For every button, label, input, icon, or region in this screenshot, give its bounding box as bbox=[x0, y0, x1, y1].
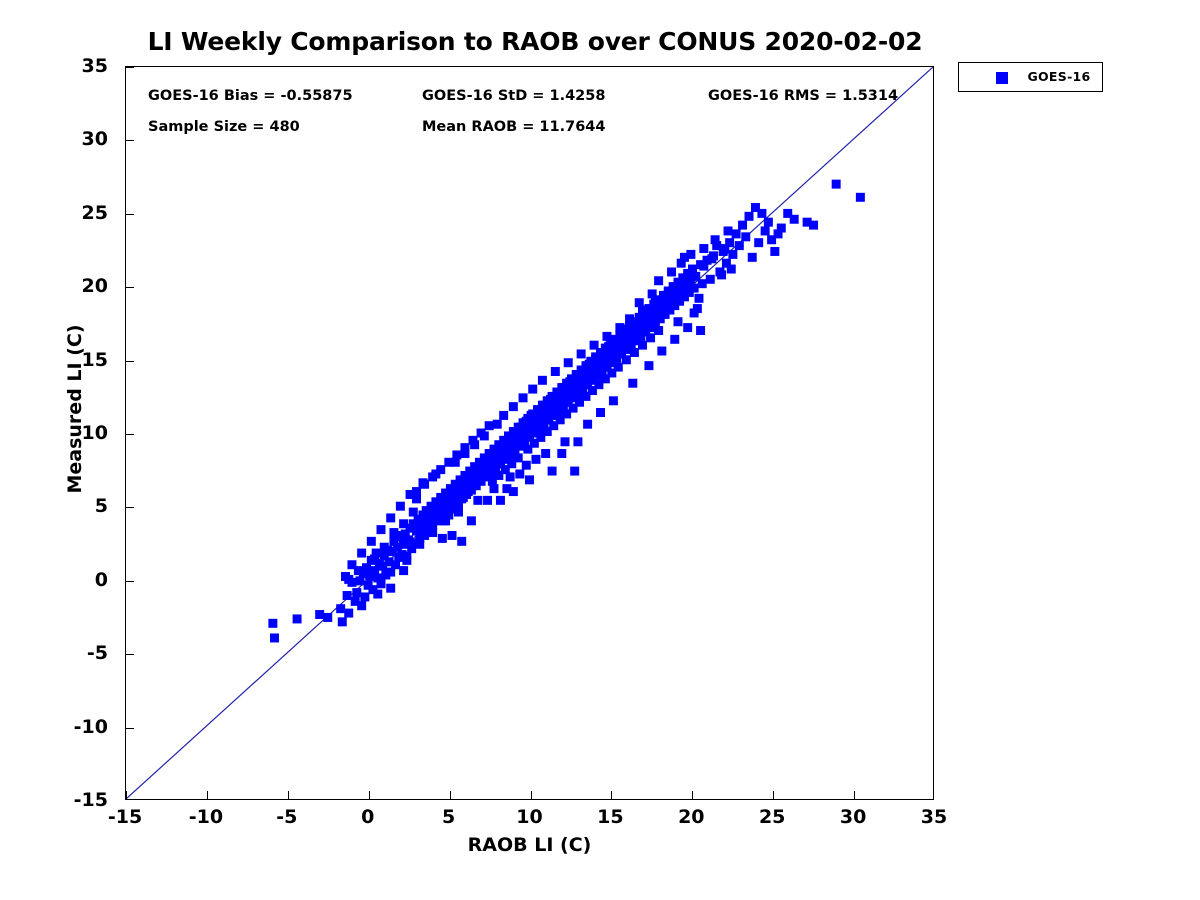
data-point bbox=[483, 496, 492, 505]
x-tick-mark bbox=[773, 791, 774, 799]
x-tick-label: 20 bbox=[678, 806, 704, 828]
x-tick-mark bbox=[288, 791, 289, 799]
data-point bbox=[699, 244, 708, 253]
y-tick-label: -5 bbox=[0, 642, 108, 664]
data-point bbox=[496, 496, 505, 505]
data-point bbox=[509, 402, 518, 411]
y-tick-mark bbox=[126, 361, 134, 362]
data-point bbox=[428, 472, 437, 481]
y-tick-label: 5 bbox=[0, 495, 108, 517]
data-point bbox=[683, 323, 692, 332]
y-tick-label: 0 bbox=[0, 569, 108, 591]
data-point bbox=[452, 450, 461, 459]
legend-box: GOES-16 bbox=[958, 62, 1103, 92]
data-point bbox=[422, 516, 431, 525]
data-point bbox=[717, 270, 726, 279]
data-point bbox=[377, 525, 386, 534]
data-point bbox=[352, 588, 361, 597]
x-tick-mark bbox=[531, 791, 532, 799]
data-point bbox=[541, 449, 550, 458]
data-point bbox=[551, 367, 560, 376]
y-tick-mark bbox=[126, 67, 134, 68]
data-point bbox=[635, 298, 644, 307]
data-point bbox=[473, 496, 482, 505]
legend-label-goes-16: GOES-16 bbox=[1019, 63, 1099, 91]
data-point bbox=[654, 276, 663, 285]
data-point bbox=[809, 221, 818, 230]
y-tick-label: -15 bbox=[0, 789, 108, 811]
data-point bbox=[694, 294, 703, 303]
data-point bbox=[690, 308, 699, 317]
data-point bbox=[444, 458, 453, 467]
x-tick-label: 5 bbox=[442, 806, 455, 828]
data-point bbox=[412, 494, 421, 503]
data-point bbox=[467, 516, 476, 525]
annotation-sample-size: Sample Size = 480 bbox=[148, 119, 300, 135]
data-point bbox=[724, 226, 733, 235]
data-point bbox=[630, 319, 639, 328]
y-axis-label: Measured LI (C) bbox=[64, 299, 86, 519]
y-tick-mark bbox=[126, 434, 134, 435]
y-tick-label: 15 bbox=[0, 349, 108, 371]
y-tick-mark bbox=[126, 140, 134, 141]
x-tick-mark bbox=[369, 791, 370, 799]
data-point bbox=[646, 333, 655, 342]
data-point bbox=[790, 215, 799, 224]
x-tick-label: 25 bbox=[759, 806, 785, 828]
data-point bbox=[386, 584, 395, 593]
data-point bbox=[399, 519, 408, 528]
data-point bbox=[564, 358, 573, 367]
data-point bbox=[386, 513, 395, 522]
data-point bbox=[436, 465, 445, 474]
x-tick-label: 30 bbox=[840, 806, 866, 828]
data-point bbox=[698, 279, 707, 288]
x-tick-label: 0 bbox=[361, 806, 374, 828]
data-point bbox=[354, 566, 363, 575]
data-point bbox=[439, 516, 448, 525]
y-tick-mark bbox=[126, 214, 134, 215]
data-point bbox=[428, 528, 437, 537]
data-point bbox=[745, 212, 754, 221]
y-tick-mark bbox=[126, 507, 134, 508]
y-tick-mark bbox=[126, 581, 134, 582]
x-axis-label: RAOB LI (C) bbox=[125, 834, 934, 856]
data-point bbox=[614, 363, 623, 372]
page-title: LI Weekly Comparison to RAOB over CONUS … bbox=[0, 27, 1070, 56]
data-point bbox=[638, 341, 647, 350]
data-point bbox=[515, 470, 524, 479]
data-point bbox=[856, 193, 865, 202]
data-point bbox=[399, 566, 408, 575]
data-point bbox=[357, 549, 366, 558]
data-point bbox=[338, 617, 347, 626]
data-point bbox=[343, 591, 352, 600]
data-point bbox=[570, 467, 579, 476]
data-point bbox=[344, 575, 353, 584]
data-point bbox=[673, 317, 682, 326]
y-tick-mark bbox=[126, 287, 134, 288]
data-point bbox=[460, 443, 469, 452]
y-tick-label: 25 bbox=[0, 202, 108, 224]
data-point bbox=[664, 288, 673, 297]
data-point bbox=[485, 421, 494, 430]
data-point bbox=[493, 420, 502, 429]
data-point bbox=[519, 393, 528, 402]
data-point bbox=[344, 609, 353, 618]
data-point bbox=[548, 467, 557, 476]
data-point bbox=[657, 347, 666, 356]
data-point bbox=[367, 537, 376, 546]
data-point bbox=[509, 487, 518, 496]
data-point bbox=[522, 461, 531, 470]
x-tick-label: 15 bbox=[597, 806, 623, 828]
data-point bbox=[336, 604, 345, 613]
data-point bbox=[667, 267, 676, 276]
data-point bbox=[360, 592, 369, 601]
data-point bbox=[402, 551, 411, 560]
y-tick-label: -10 bbox=[0, 716, 108, 738]
data-point bbox=[727, 265, 736, 274]
data-point bbox=[293, 614, 302, 623]
data-point bbox=[389, 528, 398, 537]
data-point bbox=[557, 449, 566, 458]
data-point bbox=[622, 355, 631, 364]
data-point bbox=[469, 436, 478, 445]
plot-area bbox=[125, 66, 934, 800]
data-point bbox=[690, 284, 699, 293]
data-point bbox=[270, 633, 279, 642]
data-point bbox=[707, 254, 716, 263]
data-point bbox=[628, 379, 637, 388]
data-point bbox=[377, 579, 386, 588]
data-point bbox=[644, 361, 653, 370]
data-points-group bbox=[268, 180, 864, 643]
y-tick-mark bbox=[126, 728, 134, 729]
data-point bbox=[380, 543, 389, 552]
data-point bbox=[602, 332, 611, 341]
data-point bbox=[457, 537, 466, 546]
data-point bbox=[357, 601, 366, 610]
chart-figure: LI Weekly Comparison to RAOB over CONUS … bbox=[0, 0, 1200, 900]
data-point bbox=[268, 619, 277, 628]
data-point bbox=[315, 610, 324, 619]
data-point bbox=[680, 253, 689, 262]
data-point bbox=[748, 253, 757, 262]
x-tick-label: 10 bbox=[516, 806, 542, 828]
y-tick-label: 30 bbox=[0, 128, 108, 150]
data-point bbox=[477, 429, 486, 438]
data-point bbox=[438, 534, 447, 543]
data-point bbox=[630, 348, 639, 357]
data-point bbox=[770, 247, 779, 256]
data-point bbox=[590, 341, 599, 350]
data-point bbox=[699, 262, 708, 271]
annotation-std: GOES-16 StD = 1.4258 bbox=[422, 88, 605, 104]
x-tick-mark bbox=[611, 791, 612, 799]
annotation-rms: GOES-16 RMS = 1.5314 bbox=[708, 88, 898, 104]
data-point bbox=[525, 475, 534, 484]
data-point bbox=[735, 241, 744, 250]
x-tick-label: -10 bbox=[189, 806, 223, 828]
x-tick-mark bbox=[854, 791, 855, 799]
data-point bbox=[323, 613, 332, 622]
data-point bbox=[573, 437, 582, 446]
y-tick-label: 35 bbox=[0, 55, 108, 77]
data-point bbox=[528, 385, 537, 394]
data-point bbox=[538, 376, 547, 385]
data-point bbox=[370, 554, 379, 563]
data-point bbox=[764, 218, 773, 227]
annotation-bias: GOES-16 Bias = -0.55875 bbox=[148, 88, 353, 104]
data-point bbox=[706, 275, 715, 284]
y-tick-label: 20 bbox=[0, 275, 108, 297]
x-tick-mark bbox=[207, 791, 208, 799]
data-point bbox=[654, 326, 663, 335]
data-point bbox=[415, 540, 424, 549]
data-point bbox=[596, 408, 605, 417]
x-tick-mark bbox=[450, 791, 451, 799]
data-point bbox=[777, 224, 786, 233]
data-point bbox=[738, 221, 747, 230]
annotation-mean-raob: Mean RAOB = 11.7644 bbox=[422, 119, 605, 135]
data-point bbox=[761, 226, 770, 235]
data-point bbox=[396, 502, 405, 511]
data-point bbox=[373, 590, 382, 599]
data-point bbox=[409, 508, 418, 517]
y-tick-mark bbox=[126, 654, 134, 655]
data-point bbox=[448, 531, 457, 540]
data-point bbox=[832, 180, 841, 189]
data-point bbox=[531, 455, 540, 464]
legend-marker-goes-16 bbox=[996, 72, 1008, 84]
data-point bbox=[577, 349, 586, 358]
x-tick-label: -15 bbox=[108, 806, 142, 828]
data-point bbox=[720, 244, 729, 253]
data-point bbox=[648, 289, 657, 298]
data-point bbox=[696, 326, 705, 335]
data-point bbox=[583, 420, 592, 429]
data-point bbox=[499, 411, 508, 420]
data-point bbox=[609, 396, 618, 405]
data-point bbox=[741, 232, 750, 241]
y-tick-label: 10 bbox=[0, 422, 108, 444]
data-point bbox=[732, 229, 741, 238]
scatter-canvas bbox=[126, 67, 933, 799]
data-point bbox=[420, 480, 429, 489]
x-tick-mark bbox=[692, 791, 693, 799]
data-point bbox=[561, 437, 570, 446]
x-tick-mark bbox=[126, 791, 127, 799]
data-point bbox=[728, 250, 737, 259]
data-point bbox=[670, 335, 679, 344]
data-point bbox=[757, 209, 766, 218]
data-point bbox=[711, 235, 720, 244]
data-point bbox=[754, 238, 763, 247]
x-tick-label: -5 bbox=[276, 806, 297, 828]
data-point bbox=[488, 477, 497, 486]
x-tick-label: 35 bbox=[921, 806, 947, 828]
